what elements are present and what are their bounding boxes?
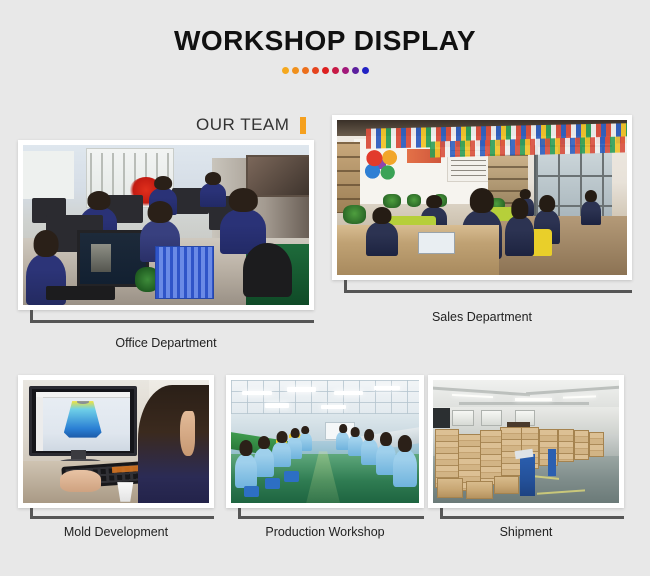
- sales-staff: [366, 222, 398, 256]
- warehouse-sign-post: [520, 454, 535, 496]
- caption-bracket-sales: [344, 280, 632, 293]
- photo-card-office-department[interactable]: [18, 140, 314, 310]
- mold-engineer: [138, 385, 209, 503]
- gradient-dot-icon: [362, 67, 369, 74]
- gradient-dot-icon: [292, 67, 299, 74]
- photo-card-mold-development[interactable]: [18, 375, 214, 508]
- workshop-ceiling-light: [287, 387, 315, 391]
- workshop-stool: [284, 471, 299, 482]
- warehouse-light: [515, 398, 552, 400]
- workshop-ceiling-light: [265, 403, 289, 407]
- warehouse-shutter: [433, 408, 450, 428]
- caption-production-workshop: Production Workshop: [226, 525, 424, 539]
- sales-wall-graphic: [363, 148, 401, 182]
- mold-engineer-face: [180, 411, 195, 456]
- sales-staff: [581, 201, 601, 226]
- carton-stack: [558, 429, 575, 462]
- mold-cad-sidebar: [36, 397, 44, 451]
- decorative-dot-row: [0, 67, 650, 74]
- office-blue-crate: [155, 246, 214, 299]
- mold-engineer-hand: [60, 470, 101, 492]
- gradient-dot-icon: [342, 67, 349, 74]
- caption-bracket-production: [238, 508, 424, 519]
- sales-staff: [505, 216, 534, 256]
- photo-production-workshop: [231, 380, 419, 503]
- section-title: OUR TEAM: [196, 115, 289, 135]
- workshop-ceiling-light: [334, 391, 362, 395]
- workshop-ceiling-light: [242, 391, 272, 395]
- sales-bookshelf: [337, 142, 360, 213]
- workshop-worker: [272, 442, 291, 468]
- workshop-stool: [244, 486, 259, 497]
- gradient-dot-icon: [332, 67, 339, 74]
- photo-mold-development: [23, 380, 209, 503]
- caption-sales-department: Sales Department: [332, 310, 632, 324]
- carton-stack: [574, 430, 589, 460]
- caption-bracket-mold: [30, 508, 214, 519]
- gradient-dot-icon: [322, 67, 329, 74]
- workshop-ceiling-light: [321, 405, 345, 409]
- warehouse-sign-post: [548, 449, 555, 476]
- page-title: WORKSHOP DISPLAY: [0, 0, 650, 55]
- sales-plant: [407, 194, 422, 206]
- photo-card-sales-department[interactable]: [332, 115, 632, 280]
- photo-shipment: [433, 380, 619, 503]
- office-window-left: [23, 151, 74, 199]
- workshop-stool: [265, 478, 280, 489]
- carton-box: [437, 478, 463, 498]
- gradient-dot-icon: [352, 67, 359, 74]
- warehouse-window: [452, 410, 474, 427]
- photo-sales-department: [337, 120, 627, 275]
- gradient-dot-icon: [302, 67, 309, 74]
- warehouse-window: [481, 410, 502, 427]
- carton-stack: [589, 432, 604, 458]
- office-worker: [200, 183, 226, 207]
- warehouse-beam: [459, 402, 589, 405]
- section-header-our-team: OUR TEAM: [196, 115, 306, 135]
- photo-card-shipment[interactable]: [428, 375, 624, 508]
- accent-bar-icon: [300, 117, 306, 134]
- sales-plant: [343, 205, 366, 224]
- photo-office-department: [23, 145, 309, 305]
- gradient-dot-icon: [282, 67, 289, 74]
- gradient-dot-icon: [312, 67, 319, 74]
- caption-bracket-shipment: [440, 508, 624, 519]
- caption-mold-development: Mold Development: [18, 525, 214, 539]
- caption-office-department: Office Department: [18, 336, 314, 350]
- office-wall-poster: [246, 155, 309, 197]
- caption-shipment: Shipment: [428, 525, 624, 539]
- sales-laptop: [418, 232, 455, 254]
- photo-card-production-workshop[interactable]: [226, 375, 424, 508]
- mold-cad-toolbar: [36, 392, 130, 398]
- carton-box: [494, 476, 518, 494]
- carton-box: [466, 481, 492, 499]
- workshop-worker: [235, 454, 258, 488]
- mold-cad-screen: [36, 392, 130, 451]
- sales-plant: [383, 194, 400, 208]
- office-keyboard: [46, 286, 115, 300]
- mold-3d-model: [64, 401, 102, 437]
- workshop-ceiling-light: [374, 386, 400, 390]
- office-chair: [243, 243, 292, 297]
- mold-monitor: [29, 386, 137, 456]
- caption-bracket-office: [30, 310, 314, 323]
- workshop-worker: [393, 450, 417, 487]
